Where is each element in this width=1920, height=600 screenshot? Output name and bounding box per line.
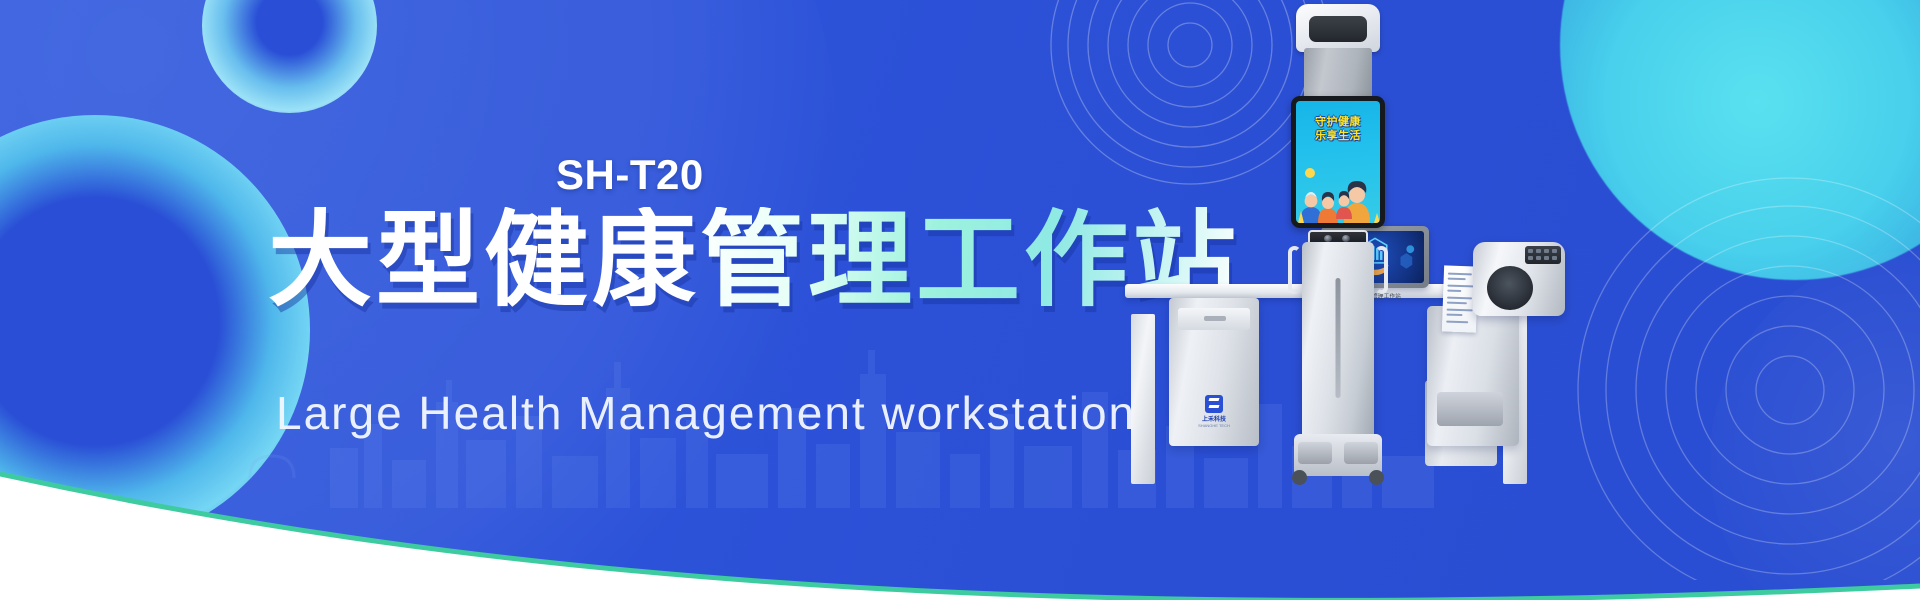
- kiosk-ad-line-1: 守护健康: [1296, 117, 1380, 128]
- camera-lens-icon: [1330, 23, 1346, 36]
- product-hero-banner: SH-T20 大型健康管理工作站 Large Health Management…: [0, 0, 1920, 600]
- white-curved-wedge: [0, 270, 1920, 600]
- bp-keypad-icon: [1525, 246, 1561, 264]
- kiosk-display-content: 守护健康 乐享生活: [1296, 101, 1380, 223]
- family-illustration-icon: [1296, 163, 1380, 223]
- kiosk-display[interactable]: 守护健康 乐享生活: [1291, 96, 1385, 228]
- kiosk-ad-line-2: 乐享生活: [1296, 131, 1380, 142]
- model-code: SH-T20: [556, 151, 704, 199]
- kiosk-head-camera: [1296, 4, 1380, 52]
